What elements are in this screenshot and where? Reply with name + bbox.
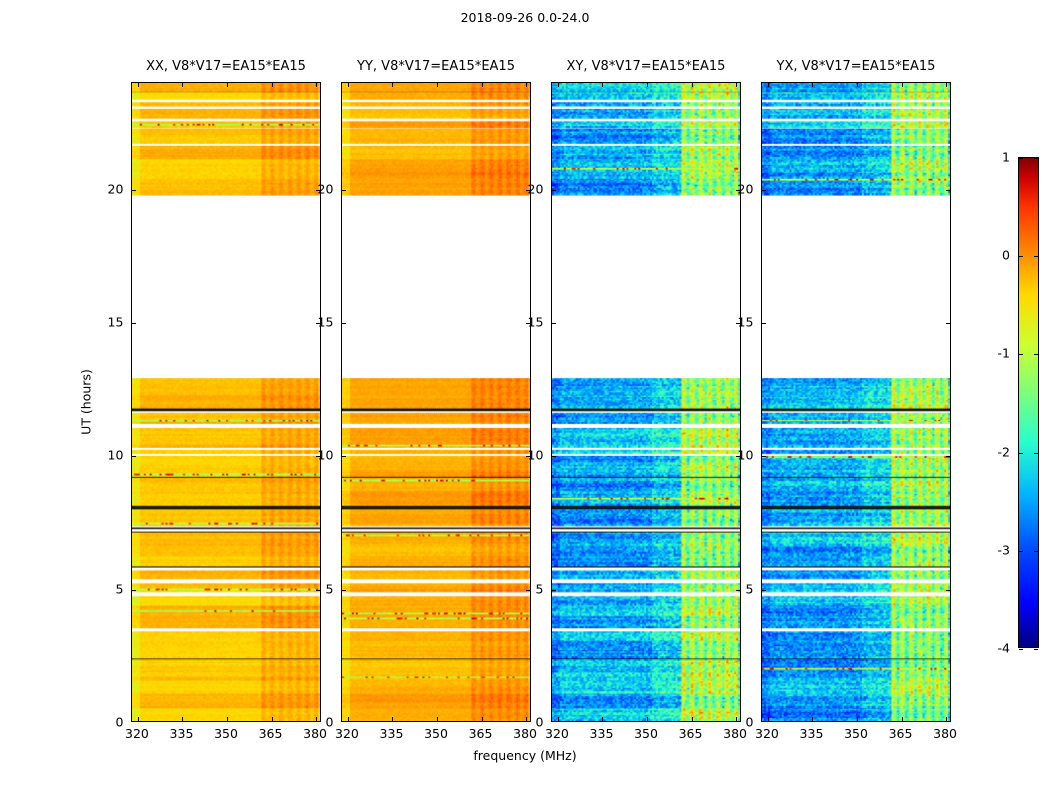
x-tick-mark (227, 717, 228, 721)
x-tick-label: 380 (513, 726, 537, 741)
y-tick-label: 15 (528, 315, 544, 330)
x-tick-label: 365 (469, 726, 493, 741)
colorbar-tick-mark (1019, 158, 1023, 159)
panel-title-xy: XY, V8*V17=EA15*EA15 (567, 59, 726, 74)
x-tick-mark (602, 717, 603, 721)
y-tick-label: 5 (325, 581, 333, 596)
axes-yx[interactable] (761, 82, 951, 722)
x-tick-mark (392, 83, 393, 87)
x-tick-mark (348, 83, 349, 87)
x-tick-mark (857, 83, 858, 87)
y-tick-label: 20 (738, 181, 754, 196)
y-tick-mark (946, 590, 950, 591)
x-tick-mark (482, 83, 483, 87)
panel-title-xx: XX, V8*V17=EA15*EA15 (146, 59, 306, 74)
x-tick-label: 320 (125, 726, 149, 741)
x-tick-label: 365 (889, 726, 913, 741)
heatmap-image-yx (762, 83, 950, 721)
x-tick-mark (736, 83, 737, 87)
colorbar-tick-mark (1034, 256, 1038, 257)
panel-title-yy: YY, V8*V17=EA15*EA15 (357, 59, 515, 74)
x-tick-mark (736, 717, 737, 721)
y-tick-label: 0 (115, 715, 123, 730)
y-tick-label: 10 (738, 448, 754, 463)
y-tick-label: 5 (535, 581, 543, 596)
x-tick-mark (316, 83, 317, 87)
colorbar-tick-label: 0 (1002, 248, 1010, 263)
y-tick-mark (552, 190, 556, 191)
x-tick-mark (812, 717, 813, 721)
x-tick-label: 320 (755, 726, 779, 741)
axes-yy[interactable] (341, 82, 531, 722)
y-tick-mark (736, 590, 740, 591)
x-tick-mark (182, 717, 183, 721)
x-tick-mark (902, 83, 903, 87)
x-tick-mark (138, 717, 139, 721)
x-tick-label: 335 (590, 726, 614, 741)
y-tick-label: 0 (325, 715, 333, 730)
y-tick-mark (552, 456, 556, 457)
x-tick-mark (316, 717, 317, 721)
x-tick-mark (437, 717, 438, 721)
colorbar-tick-mark (1034, 453, 1038, 454)
y-tick-mark (342, 323, 346, 324)
panel-xy: XY, V8*V17=EA15*EA1532033535036538005101… (551, 82, 741, 722)
panel-yx: YX, V8*V17=EA15*EA1532033535036538005101… (761, 82, 951, 722)
y-tick-mark (526, 590, 530, 591)
colorbar-tick-mark (1034, 551, 1038, 552)
y-tick-mark (132, 323, 136, 324)
x-tick-label: 335 (800, 726, 824, 741)
colorbar-tick-mark (1034, 649, 1038, 650)
y-tick-label: 10 (528, 448, 544, 463)
x-tick-mark (768, 717, 769, 721)
x-tick-label: 380 (933, 726, 957, 741)
y-tick-label: 5 (745, 581, 753, 596)
x-tick-label: 335 (170, 726, 194, 741)
x-tick-mark (602, 83, 603, 87)
y-tick-mark (132, 190, 136, 191)
y-tick-mark (342, 456, 346, 457)
colorbar-tick-mark (1034, 158, 1038, 159)
figure-suptitle: 2018-09-26 0.0-24.0 (0, 10, 1050, 25)
colorbar-tick-label: -4 (998, 641, 1010, 656)
x-tick-mark (272, 717, 273, 721)
x-tick-label: 320 (335, 726, 359, 741)
axes-xx[interactable] (131, 82, 321, 722)
x-tick-mark (692, 717, 693, 721)
y-tick-mark (342, 590, 346, 591)
colorbar-tick-label: -3 (998, 542, 1010, 557)
x-tick-label: 350 (844, 726, 868, 741)
x-tick-mark (647, 717, 648, 721)
y-tick-mark (132, 590, 136, 591)
heatmap-image-xx (132, 83, 320, 721)
x-tick-mark (526, 717, 527, 721)
colorbar-tick-mark (1019, 551, 1023, 552)
colorbar-tick-label: 1 (1002, 150, 1010, 165)
x-tick-label: 350 (214, 726, 238, 741)
panel-yy: YY, V8*V17=EA15*EA1532033535036538005101… (341, 82, 531, 722)
y-tick-label: 20 (318, 181, 334, 196)
x-tick-label: 380 (723, 726, 747, 741)
y-tick-mark (762, 190, 766, 191)
y-tick-label: 15 (738, 315, 754, 330)
x-tick-mark (558, 83, 559, 87)
x-tick-mark (902, 717, 903, 721)
x-tick-label: 365 (259, 726, 283, 741)
y-tick-mark (762, 590, 766, 591)
y-tick-label: 10 (108, 448, 124, 463)
y-tick-mark (316, 590, 320, 591)
x-tick-mark (138, 83, 139, 87)
y-tick-mark (946, 190, 950, 191)
y-tick-label: 20 (108, 181, 124, 196)
x-tick-label: 335 (380, 726, 404, 741)
y-tick-label: 5 (115, 581, 123, 596)
x-tick-label: 365 (679, 726, 703, 741)
x-axis-title: frequency (MHz) (0, 748, 1050, 763)
colorbar-tick-mark (1019, 354, 1023, 355)
axes-xy[interactable] (551, 82, 741, 722)
y-tick-mark (946, 323, 950, 324)
x-tick-label: 380 (303, 726, 327, 741)
x-tick-mark (768, 83, 769, 87)
x-tick-mark (558, 717, 559, 721)
colorbar-tick-label: -2 (998, 444, 1010, 459)
colorbar-tick-mark (1019, 453, 1023, 454)
y-tick-mark (762, 323, 766, 324)
x-tick-mark (437, 83, 438, 87)
x-tick-mark (526, 83, 527, 87)
colorbar-tick-label: -1 (998, 346, 1010, 361)
y-tick-mark (552, 590, 556, 591)
x-tick-mark (482, 717, 483, 721)
panel-xx: XX, V8*V17=EA15*EA1532033535036538005101… (131, 82, 321, 722)
panel-title-yx: YX, V8*V17=EA15*EA15 (777, 59, 936, 74)
y-tick-label: 10 (318, 448, 334, 463)
heatmap-image-xy (552, 83, 740, 721)
x-tick-mark (272, 83, 273, 87)
x-tick-mark (647, 83, 648, 87)
y-tick-mark (762, 456, 766, 457)
figure-canvas: 2018-09-26 0.0-24.0 frequency (MHz) UT (… (0, 0, 1050, 800)
y-tick-mark (552, 323, 556, 324)
colorbar (1018, 157, 1039, 648)
x-tick-label: 320 (545, 726, 569, 741)
colorbar-tick-mark (1034, 354, 1038, 355)
colorbar-tick-mark (1019, 256, 1023, 257)
x-tick-mark (857, 717, 858, 721)
y-tick-label: 0 (745, 715, 753, 730)
x-tick-mark (227, 83, 228, 87)
y-tick-mark (946, 456, 950, 457)
x-tick-label: 350 (634, 726, 658, 741)
y-tick-label: 15 (318, 315, 334, 330)
x-tick-mark (348, 717, 349, 721)
x-tick-mark (392, 717, 393, 721)
y-axis-title: UT (hours) (79, 369, 94, 435)
heatmap-image-yy (342, 83, 530, 721)
x-tick-mark (946, 717, 947, 721)
y-tick-mark (342, 190, 346, 191)
x-tick-label: 350 (424, 726, 448, 741)
y-tick-label: 20 (528, 181, 544, 196)
colorbar-tick-mark (1019, 649, 1023, 650)
x-tick-mark (812, 83, 813, 87)
x-tick-mark (182, 83, 183, 87)
x-tick-mark (946, 83, 947, 87)
x-tick-mark (692, 83, 693, 87)
y-tick-label: 15 (108, 315, 124, 330)
y-tick-label: 0 (535, 715, 543, 730)
y-tick-mark (132, 456, 136, 457)
